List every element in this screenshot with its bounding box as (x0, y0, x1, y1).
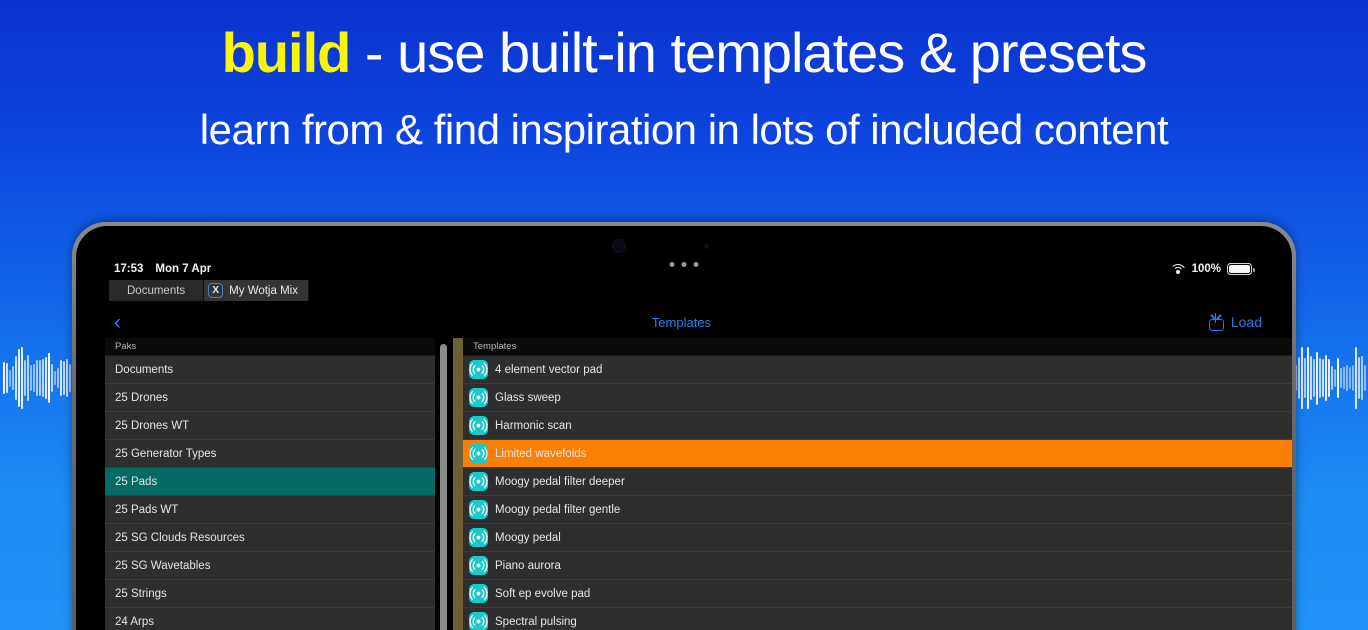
pak-list-item[interactable]: 25 Drones (105, 384, 435, 412)
waveform-bar (1316, 352, 1318, 405)
pak-list-item[interactable]: 25 Strings (105, 580, 435, 608)
template-list-item[interactable]: Spectral pulsing (463, 608, 1292, 630)
waveform-bar (1355, 347, 1357, 408)
template-item-label: Glass sweep (495, 392, 561, 404)
waveform-bar (1346, 365, 1348, 391)
pak-list-item[interactable]: 25 Drones WT (105, 412, 435, 440)
pak-list-item[interactable]: 24 Arps (105, 608, 435, 630)
broadcast-signal-icon (469, 416, 488, 435)
waveform-bar (39, 360, 41, 397)
broadcast-signal-icon (469, 472, 488, 491)
template-item-label: Limited wavefolds (495, 448, 586, 460)
template-item-label: Spectral pulsing (495, 616, 577, 628)
paks-header: Paks (105, 338, 435, 356)
template-list-item[interactable]: 4 element vector pad (463, 356, 1292, 384)
waveform-bar (1304, 358, 1306, 397)
waveform-bar (57, 368, 59, 388)
volume-down-button[interactable] (220, 222, 282, 225)
pak-list-item[interactable]: 25 Generator Types (105, 440, 435, 468)
pak-item-label: 25 SG Wavetables (115, 560, 210, 572)
waveform-bar (1322, 359, 1324, 398)
pak-item-label: 25 Drones WT (115, 420, 189, 432)
waveform-bar (1352, 365, 1354, 391)
template-list-item[interactable]: Piano aurora (463, 552, 1292, 580)
template-list-item[interactable]: Limited wavefolds (463, 440, 1292, 468)
waveform-bar (1328, 359, 1330, 398)
battery-full-icon (1227, 263, 1252, 275)
front-camera-icon (612, 239, 626, 253)
waveform-bar (1343, 367, 1345, 389)
promo-subheadline: learn from & find inspiration in lots of… (0, 106, 1368, 154)
navigation-bar: ‹ Templates Load (76, 306, 1292, 338)
tab-label: My Wotja Mix (229, 285, 298, 297)
waveform-bar (30, 365, 32, 391)
pak-list-item[interactable]: 25 Pads WT (105, 496, 435, 524)
waveform-bar (1340, 368, 1342, 389)
promo-keyword: build (222, 21, 351, 84)
waveform-bar (27, 355, 29, 402)
tablet-screen: 17:53 Mon 7 Apr 100% Documents X My Wotj… (76, 226, 1292, 630)
waveform-bar (15, 356, 17, 400)
tab-label: Documents (127, 285, 185, 297)
waveform-bar (1298, 357, 1300, 398)
waveform-bar (66, 359, 68, 397)
waveform-bar (1307, 347, 1309, 409)
waveform-bar (21, 347, 23, 409)
battery-percent-label: 100% (1192, 263, 1221, 275)
template-item-label: Piano aurora (495, 560, 561, 572)
waveform-bar (1361, 356, 1363, 400)
waveform-bar (36, 360, 38, 396)
waveform-bar (60, 360, 62, 396)
waveform-bar (24, 360, 26, 396)
pak-list-item[interactable]: Documents (105, 356, 435, 384)
template-list-item[interactable]: Moogy pedal filter deeper (463, 468, 1292, 496)
template-item-label: Soft ep evolve pad (495, 588, 590, 600)
broadcast-signal-icon (469, 556, 488, 575)
waveform-bar (1313, 359, 1315, 398)
waveform-bar (51, 364, 53, 392)
tablet-device-frame: 17:53 Mon 7 Apr 100% Documents X My Wotj… (72, 222, 1296, 630)
waveform-bar (12, 366, 14, 389)
chevron-left-icon[interactable]: ‹ (114, 312, 154, 333)
split-view: Paks Documents25 Drones25 Drones WT25 Ge… (105, 338, 1292, 630)
document-tab-bar: Documents X My Wotja Mix (109, 280, 309, 301)
template-list-item[interactable]: Glass sweep (463, 384, 1292, 412)
pak-item-label: 25 Pads WT (115, 504, 178, 516)
pak-list-item[interactable]: 25 SG Clouds Resources (105, 524, 435, 552)
pak-item-label: 25 Pads (115, 476, 157, 488)
pak-item-label: 25 Strings (115, 588, 167, 600)
pane-divider[interactable] (453, 338, 463, 630)
broadcast-signal-icon (469, 500, 488, 519)
waveform-bar (33, 364, 35, 392)
promo-text-block: build - use built-in templates & presets… (0, 22, 1368, 154)
waveform-bar (48, 353, 50, 403)
templates-list[interactable]: 4 element vector padGlass sweepHarmonic … (463, 356, 1292, 630)
pak-item-label: 25 Drones (115, 392, 168, 404)
status-time: 17:53 (114, 263, 143, 275)
paks-list[interactable]: Documents25 Drones25 Drones WT25 Generat… (105, 356, 435, 630)
template-item-label: Moogy pedal filter gentle (495, 504, 620, 516)
waveform-bar (1337, 358, 1339, 398)
waveform-bar (1319, 358, 1321, 398)
broadcast-signal-icon (469, 528, 488, 547)
paks-pane: Paks Documents25 Drones25 Drones WT25 Ge… (105, 338, 435, 630)
pak-list-item[interactable]: 25 Pads (105, 468, 435, 496)
waveform-bar (1310, 356, 1312, 400)
waveform-bar (1301, 347, 1303, 410)
waveform-bar (1331, 366, 1333, 390)
waveform-bar (42, 359, 44, 397)
scrollbar-thumb[interactable] (440, 344, 447, 630)
waveform-bar (1349, 367, 1351, 389)
waveform-bar (63, 361, 65, 395)
template-list-item[interactable]: Harmonic scan (463, 412, 1292, 440)
status-bar: 17:53 Mon 7 Apr 100% (76, 258, 1292, 280)
waveform-bar (1358, 357, 1360, 399)
pak-item-label: 24 Arps (115, 616, 154, 628)
page-title: Templates (154, 315, 1209, 330)
close-icon[interactable]: X (208, 283, 223, 298)
template-item-label: 4 element vector pad (495, 364, 602, 376)
templates-pane: Templates 4 element vector padGlass swee… (463, 338, 1292, 630)
pak-item-label: 25 SG Clouds Resources (115, 532, 245, 544)
broadcast-signal-icon (469, 388, 488, 407)
status-date: Mon 7 Apr (155, 263, 211, 275)
paks-scrollbar[interactable] (435, 338, 453, 630)
waveform-bar (45, 357, 47, 399)
camera-island (564, 236, 804, 260)
template-list-item[interactable]: Moogy pedal filter gentle (463, 496, 1292, 524)
promo-headline: build - use built-in templates & presets (0, 22, 1368, 84)
pak-item-label: 25 Generator Types (115, 448, 216, 460)
waveform-bar (6, 363, 8, 394)
tab-my-wotja-mix[interactable]: X My Wotja Mix (204, 280, 309, 301)
waveform-bar (54, 371, 56, 385)
waveform-bar (3, 362, 5, 395)
broadcast-signal-icon (469, 612, 488, 630)
broadcast-signal-icon (469, 444, 488, 463)
sensor-icon (704, 244, 709, 249)
templates-header: Templates (463, 338, 1292, 356)
promo-headline-rest: - use built-in templates & presets (350, 21, 1146, 84)
waveform-bar (1334, 369, 1336, 387)
template-item-label: Harmonic scan (495, 420, 572, 432)
pak-item-label: Documents (115, 364, 173, 376)
volume-up-button[interactable] (152, 222, 214, 225)
share-icon[interactable] (1209, 313, 1224, 331)
broadcast-signal-icon (469, 360, 488, 379)
template-item-label: Moogy pedal (495, 532, 561, 544)
waveform-bar (9, 370, 11, 387)
load-button[interactable]: Load (1231, 314, 1262, 330)
broadcast-signal-icon (469, 584, 488, 603)
template-list-item[interactable]: Moogy pedal (463, 524, 1292, 552)
waveform-bar (69, 364, 71, 393)
pak-list-item[interactable]: 25 SG Wavetables (105, 552, 435, 580)
template-item-label: Moogy pedal filter deeper (495, 476, 625, 488)
template-list-item[interactable]: Soft ep evolve pad (463, 580, 1292, 608)
waveform-bar (18, 349, 20, 407)
waveform-bar (1325, 355, 1327, 400)
tab-documents[interactable]: Documents (109, 280, 204, 301)
wifi-icon (1171, 264, 1186, 275)
waveform-bar (1364, 365, 1366, 391)
